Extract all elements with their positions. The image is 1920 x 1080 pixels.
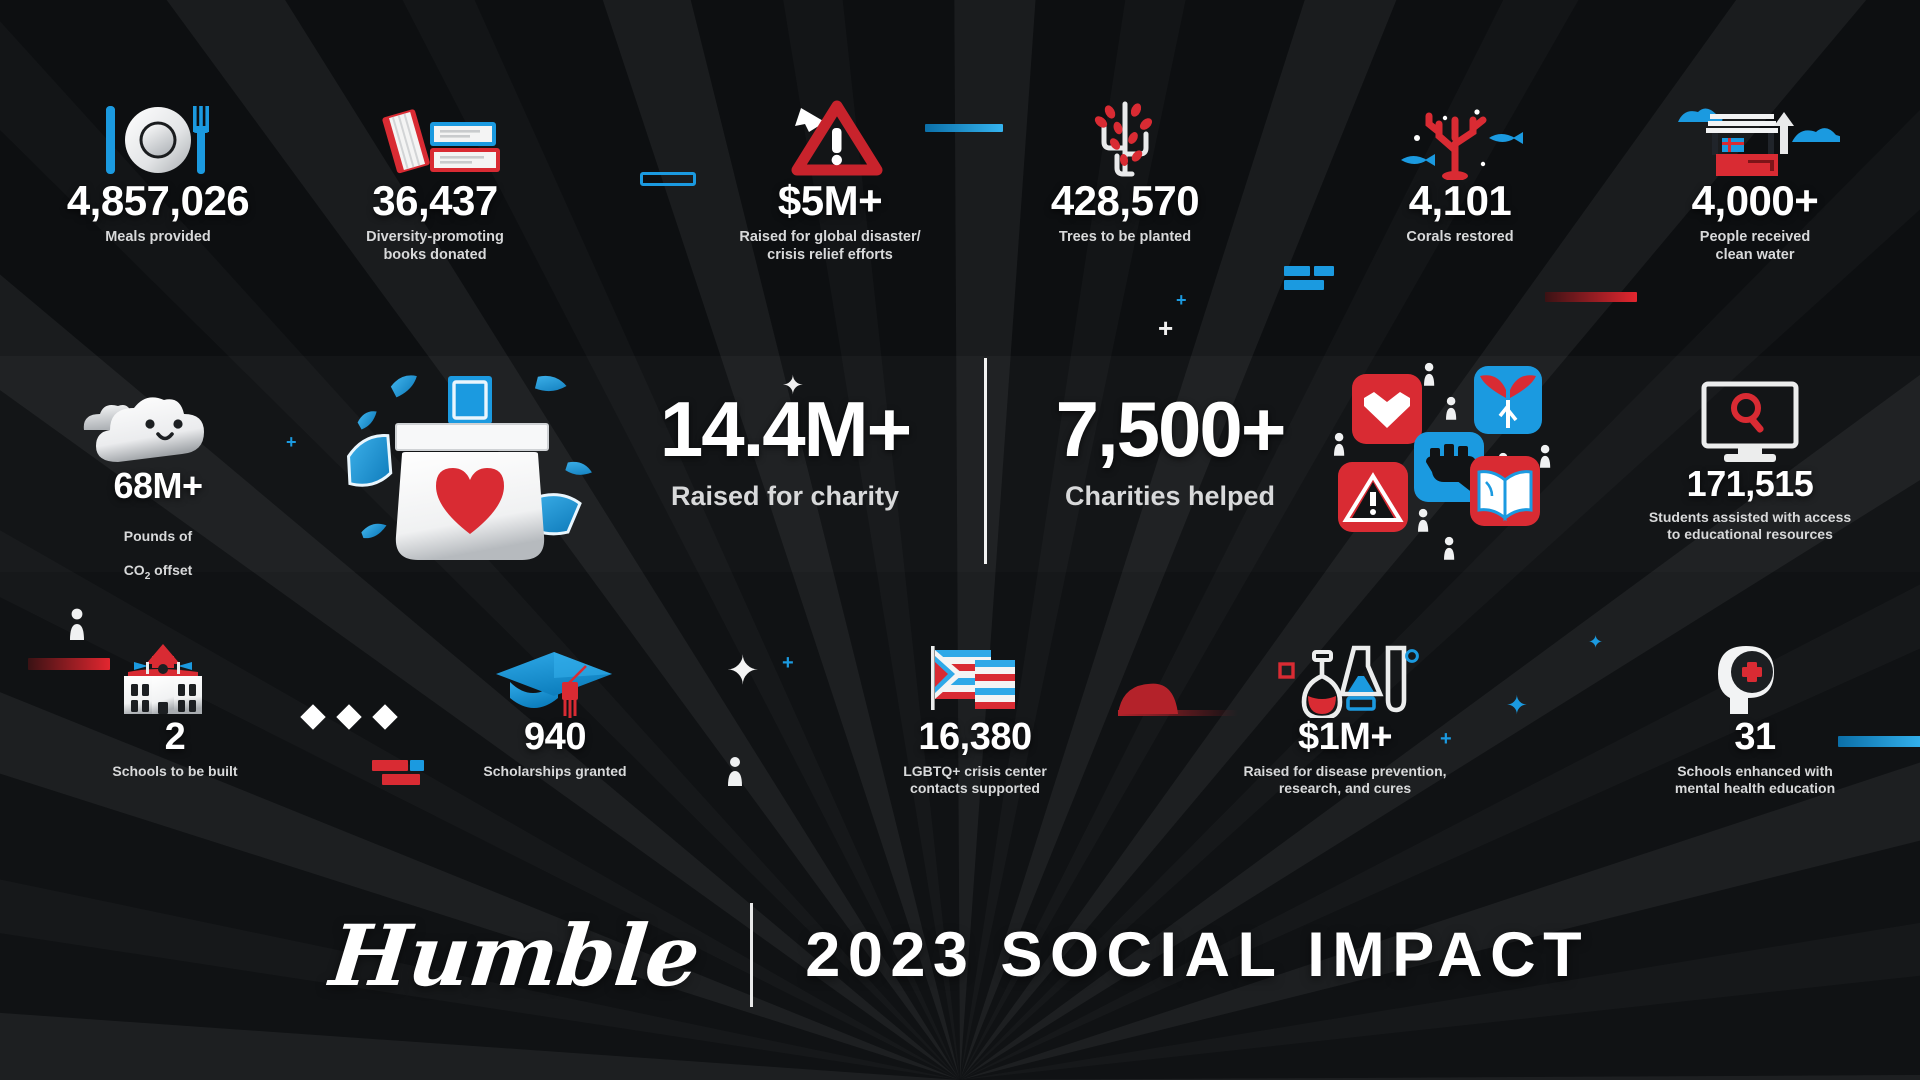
head-medical-cross-icon [1610, 640, 1900, 718]
decor-sparkle-large: ✦ [726, 648, 760, 694]
plate-cutlery-icon [38, 96, 278, 180]
decor-diamond-2 [336, 704, 361, 729]
stat-value: 4,000+ [1630, 180, 1880, 222]
page-title: 2023 SOCIAL IMPACT [805, 919, 1589, 991]
decor-diamond-1 [300, 704, 325, 729]
stat-value: 14.4M+ [590, 390, 980, 468]
charity-badges-icon [1330, 358, 1580, 573]
school-building-icon [60, 640, 290, 718]
stat-co2-offset: 68M+ Pounds of CO2 offset [58, 376, 258, 583]
stat-value: 7,500+ [1010, 390, 1330, 468]
stat-value: 2 [60, 718, 290, 756]
stat-label: Raised for disease prevention, research,… [1195, 763, 1495, 797]
decor-red-bar-4 [382, 774, 420, 785]
stat-label: Meals provided [38, 229, 278, 247]
badge-sprout [1474, 366, 1542, 434]
stat-raised-for-charity: 14.4M+ Raised for charity [590, 390, 980, 513]
decor-plus-blue-3: + [782, 652, 794, 675]
stat-scholarships-granted: 940 Scholarships granted [440, 640, 670, 780]
decor-sparkle-blue-2: ✦ [1588, 632, 1603, 653]
hero-divider [984, 358, 987, 564]
stat-label-line2-post: offset [150, 562, 192, 578]
books-icon [310, 96, 560, 180]
decor-blue-bar-2 [1284, 266, 1310, 276]
stat-value: 4,101 [1350, 180, 1570, 222]
stat-label: Students assisted with access to educati… [1600, 509, 1900, 543]
stat-clean-water: 4,000+ People received clean water [1630, 96, 1880, 264]
stat-label: People received clean water [1630, 229, 1880, 264]
stat-label: Charities helped [1010, 480, 1330, 513]
footer-divider [750, 903, 753, 1007]
monitor-search-icon [1600, 376, 1900, 466]
coral-fish-icon [1350, 96, 1570, 180]
stat-mental-health-schools: 31 Schools enhanced with mental health e… [1610, 640, 1900, 797]
decor-plus-blue-2: + [286, 432, 297, 453]
stat-value: 171,515 [1600, 466, 1900, 502]
stat-label: Trees to be planted [1000, 229, 1250, 247]
badge-warning [1338, 462, 1408, 532]
warning-triangle-icon [690, 96, 970, 180]
stat-books-donated: 36,437 Diversity-promoting books donated [310, 96, 560, 264]
stat-label: Schools to be built [60, 763, 290, 780]
cloud-face-icon [58, 376, 258, 468]
pride-flag-icon [845, 640, 1105, 718]
decor-blue-bar-6 [1838, 736, 1920, 747]
stat-schools-built: 2 Schools to be built [60, 640, 290, 780]
stat-value: $5M+ [690, 180, 970, 222]
stat-label: Corals restored [1350, 229, 1570, 247]
stat-label-line1: Pounds of [124, 528, 192, 544]
decor-plus-white: + [1158, 313, 1173, 344]
lab-flasks-icon [1195, 640, 1495, 718]
stat-label: LGBTQ+ crisis center contacts supported [845, 763, 1105, 797]
decor-plus-small: + [1176, 290, 1187, 311]
decor-blue-bar-3 [1314, 266, 1334, 276]
stat-trees-planted: 428,570 Trees to be planted [1000, 96, 1250, 247]
stat-value: 68M+ [58, 468, 258, 504]
stat-label-line2-pre: CO [124, 562, 145, 578]
donation-jar-heart-icon [340, 350, 610, 565]
decor-diamond-3 [372, 704, 397, 729]
water-well-icon [1630, 96, 1880, 180]
stat-value: 4,857,026 [38, 180, 278, 222]
decor-plus-blue-4: + [1440, 728, 1452, 751]
badge-book [1470, 456, 1540, 526]
decor-blue-bar-4 [1284, 280, 1324, 290]
stat-students-assisted: 171,515 Students assisted with access to… [1600, 376, 1900, 543]
tree-icon [1000, 96, 1250, 180]
decor-blue-pill [640, 172, 696, 186]
decor-red-bar-3 [372, 760, 408, 771]
decor-person-figure-2 [728, 756, 742, 793]
stat-label: Scholarships granted [440, 763, 670, 780]
stat-label: Schools enhanced with mental health educ… [1610, 763, 1900, 797]
stat-meals-provided: 4,857,026 Meals provided [38, 96, 278, 247]
decor-blue-bar-5 [410, 760, 424, 771]
stat-value: 36,437 [310, 180, 560, 222]
stat-lgbtq-crisis-contacts: 16,380 LGBTQ+ crisis center contacts sup… [845, 640, 1105, 797]
stat-label: Diversity-promoting books donated [310, 229, 560, 264]
humble-logo: Humble [326, 906, 704, 1005]
stat-corals-restored: 4,101 Corals restored [1350, 96, 1570, 247]
stat-label: Raised for global disaster/ crisis relie… [690, 229, 970, 264]
stat-label: Raised for charity [590, 480, 980, 513]
stat-label: Pounds of CO2 offset [58, 511, 258, 583]
stat-disaster-relief: $5M+ Raised for global disaster/ crisis … [690, 96, 970, 264]
graduation-cap-icon [440, 640, 670, 718]
decor-red-bar [1545, 292, 1637, 302]
footer: Humble 2023 SOCIAL IMPACT [0, 880, 1920, 1030]
stat-value: 940 [440, 718, 670, 756]
stat-charities-helped: 7,500+ Charities helped [1010, 390, 1330, 513]
stat-disease-prevention: $1M+ Raised for disease prevention, rese… [1195, 640, 1495, 797]
stat-value: 428,570 [1000, 180, 1250, 222]
badge-heart [1352, 374, 1422, 444]
decor-sparkle-blue: ✦ [1506, 690, 1528, 721]
stat-value: 16,380 [845, 718, 1105, 756]
